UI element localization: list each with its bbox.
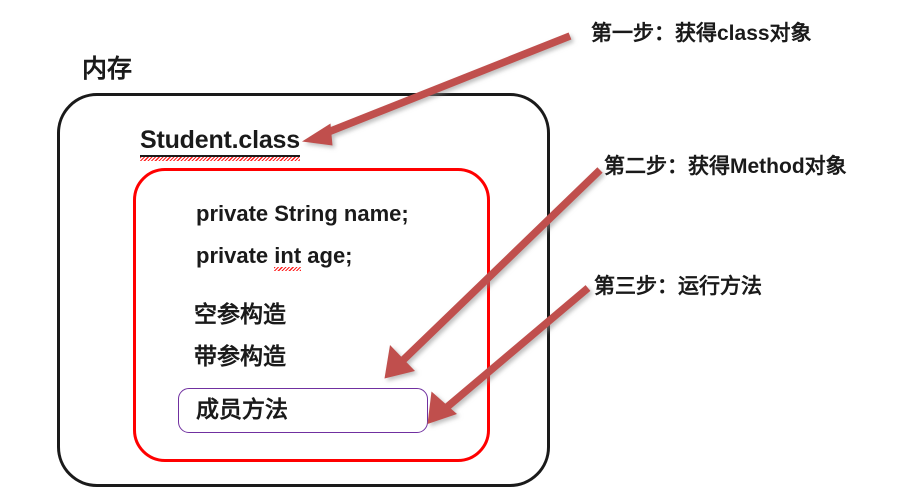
member-method-label: 成员方法 xyxy=(196,398,288,421)
field-age-prefix: private xyxy=(196,243,274,268)
step-3-label: 第三步：运行方法 xyxy=(594,276,762,297)
diagram-canvas: 内存 Student.class private String name; pr… xyxy=(0,0,919,501)
constructor-arg-label: 带参构造 xyxy=(194,345,286,368)
field-declaration-age: private int age; xyxy=(196,245,353,267)
field-age-keyword: int xyxy=(274,245,301,267)
class-object-label: Student.class xyxy=(140,128,300,157)
constructor-noarg-label: 空参构造 xyxy=(194,303,286,326)
memory-label: 内存 xyxy=(82,57,132,82)
step-1-label: 第一步：获得class对象 xyxy=(591,23,812,44)
field-age-suffix: age; xyxy=(301,243,352,268)
class-object-text: Student.class xyxy=(140,128,300,157)
field-declaration-name: private String name; xyxy=(196,203,409,225)
step-2-label: 第二步：获得Method对象 xyxy=(604,156,847,177)
